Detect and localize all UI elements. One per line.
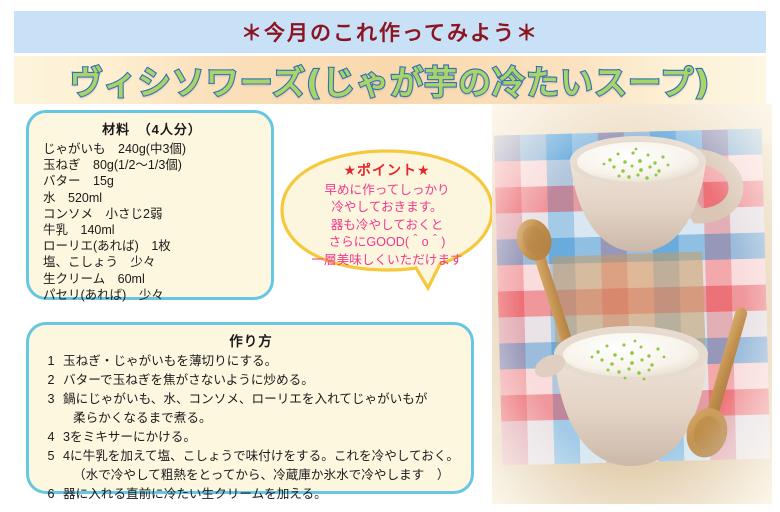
point-heading: ★ポイント★ [278,160,496,180]
title-band: ヴィシソワーズ(じゃが芋の冷たいスープ) [14,56,766,104]
ingredient-item: 塩、こしょう 少々 [43,254,261,270]
recipe-title: ヴィシソワーズ(じゃが芋の冷たいスープ) [70,56,711,104]
steps-panel: 作り方 1 玉ねぎ・じゃがいもを薄切りにする。 2 バターで玉ねぎを焦がさないよ… [26,322,474,494]
step-number: 2 [39,371,63,390]
step-number: 4 [39,428,63,447]
step-continuation: 柔らかくなるまで煮る。 [39,409,463,428]
step-continuation: （水で冷やして粗熱をとってから、冷蔵庫か氷水で冷やします ） [39,466,463,485]
ingredients-heading: 材料 （4人分） [43,119,261,138]
ingredients-panel: 材料 （4人分） じゃがいも 240g(中3個) 玉ねぎ 80g(1/2〜1/3… [26,110,274,300]
point-line: 冷やしておきます。 [278,199,496,216]
top-banner: ＊今月のこれ作ってみよう＊ [14,11,766,53]
step-row: 1 玉ねぎ・じゃがいもを薄切りにする。 [39,352,463,371]
step-number: 3 [39,390,63,409]
step-text: 鍋にじゃがいも、水、コンソメ、ローリエを入れてじゃがいもが [63,390,463,409]
ingredient-item: パセリ(あれば) 少々 [43,287,261,303]
step-number: 5 [39,447,63,466]
step-text: 器に入れる直前に冷たい生クリームを加える。 [63,485,463,504]
ingredient-item: 生クリーム 60ml [43,271,261,287]
ingredient-item: コンソメ 小さじ2弱 [43,206,261,222]
point-content: ★ポイント★ 早めに作ってしっかり 冷やしておきます。 器も冷やしておくと さら… [278,160,496,269]
step-row: 4 3をミキサーにかける。 [39,428,463,447]
ingredient-item: じゃがいも 240g(中3個) [43,141,261,157]
step-text: 玉ねぎ・じゃがいもを薄切りにする。 [63,352,463,371]
step-text: 4に牛乳を加えて塩、こしょうで味付けをする。これを冷やしておく。 [63,447,463,466]
point-bubble: ★ポイント★ 早めに作ってしっかり 冷やしておきます。 器も冷やしておくと さら… [278,148,496,300]
step-row: 3 鍋にじゃがいも、水、コンソメ、ローリエを入れてじゃがいもが [39,390,463,409]
step-text: バターで玉ねぎを焦がさないように炒める。 [63,371,463,390]
step-row: 6 器に入れる直前に冷たい生クリームを加える。 [39,485,463,504]
ingredient-item: ローリエ(あれば) 1枚 [43,238,261,254]
steps-heading: 作り方 [39,330,463,350]
ingredient-item: 牛乳 140ml [43,222,261,238]
dish-photo-illustration [492,104,772,504]
recipe-card: ＊今月のこれ作ってみよう＊ ヴィシソワーズ(じゃが芋の冷たいスープ) 材料 （4… [0,0,780,512]
step-row: 5 4に牛乳を加えて塩、こしょうで味付けをする。これを冷やしておく。 [39,447,463,466]
point-line: 早めに作ってしっかり [278,182,496,199]
point-line: 器も冷やしておくと [278,217,496,234]
ingredient-item: 水 520ml [43,190,261,206]
step-number: 1 [39,352,63,371]
step-row: 2 バターで玉ねぎを焦がさないように炒める。 [39,371,463,390]
step-number: 6 [39,485,63,504]
step-text: 3をミキサーにかける。 [63,428,463,447]
point-line: 一層美味しくいただけます [278,252,496,269]
dish-photo [492,104,772,504]
banner-title: ＊今月のこれ作ってみよう＊ [241,17,539,47]
ingredient-item: バター 15g [43,173,261,189]
point-line: さらにGOOD(＾o＾) [278,234,496,251]
ingredient-item: 玉ねぎ 80g(1/2〜1/3個) [43,157,261,173]
